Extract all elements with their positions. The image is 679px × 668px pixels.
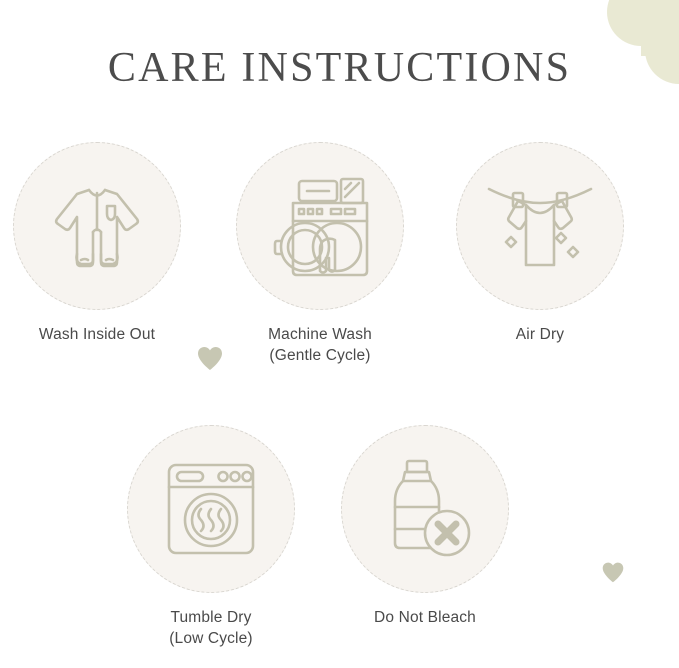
label-tumble-dry: Tumble Dry (Low Cycle) xyxy=(122,607,300,649)
heart-accent-icon xyxy=(601,560,625,584)
instruction-machine-wash: Machine Wash (Gentle Cycle) xyxy=(231,142,409,366)
page-title: CARE INSTRUCTIONS xyxy=(0,44,679,92)
instruction-air-dry: Air Dry xyxy=(451,142,629,345)
no-bleach-bottle-icon xyxy=(369,453,481,565)
instruction-wash-inside-out: Wash Inside Out xyxy=(8,142,186,345)
washing-machine-icon xyxy=(261,167,379,285)
baby-onesie-icon xyxy=(41,170,153,282)
clothesline-shirt-icon xyxy=(481,167,599,285)
icon-circle-tumble-dry xyxy=(127,425,295,593)
label-main: Air Dry xyxy=(516,326,564,343)
label-sub: (Gentle Cycle) xyxy=(231,345,409,366)
care-instructions-infographic: CARE INSTRUCTIONS xyxy=(0,0,679,668)
icon-circle-do-not-bleach xyxy=(341,425,509,593)
heart-divider-icon xyxy=(196,344,224,372)
icon-circle-wash-inside-out xyxy=(13,142,181,310)
label-main: Machine Wash xyxy=(268,326,372,343)
label-main: Do Not Bleach xyxy=(374,609,476,626)
instruction-tumble-dry: Tumble Dry (Low Cycle) xyxy=(122,425,300,649)
label-machine-wash: Machine Wash (Gentle Cycle) xyxy=(231,324,409,366)
icon-circle-air-dry xyxy=(456,142,624,310)
label-main: Tumble Dry xyxy=(170,609,251,626)
label-do-not-bleach: Do Not Bleach xyxy=(336,607,514,628)
label-wash-inside-out: Wash Inside Out xyxy=(8,324,186,345)
icon-circle-machine-wash xyxy=(236,142,404,310)
label-air-dry: Air Dry xyxy=(451,324,629,345)
dryer-icon xyxy=(155,453,267,565)
label-sub: (Low Cycle) xyxy=(122,628,300,649)
label-main: Wash Inside Out xyxy=(39,326,155,343)
instruction-do-not-bleach: Do Not Bleach xyxy=(336,425,514,628)
